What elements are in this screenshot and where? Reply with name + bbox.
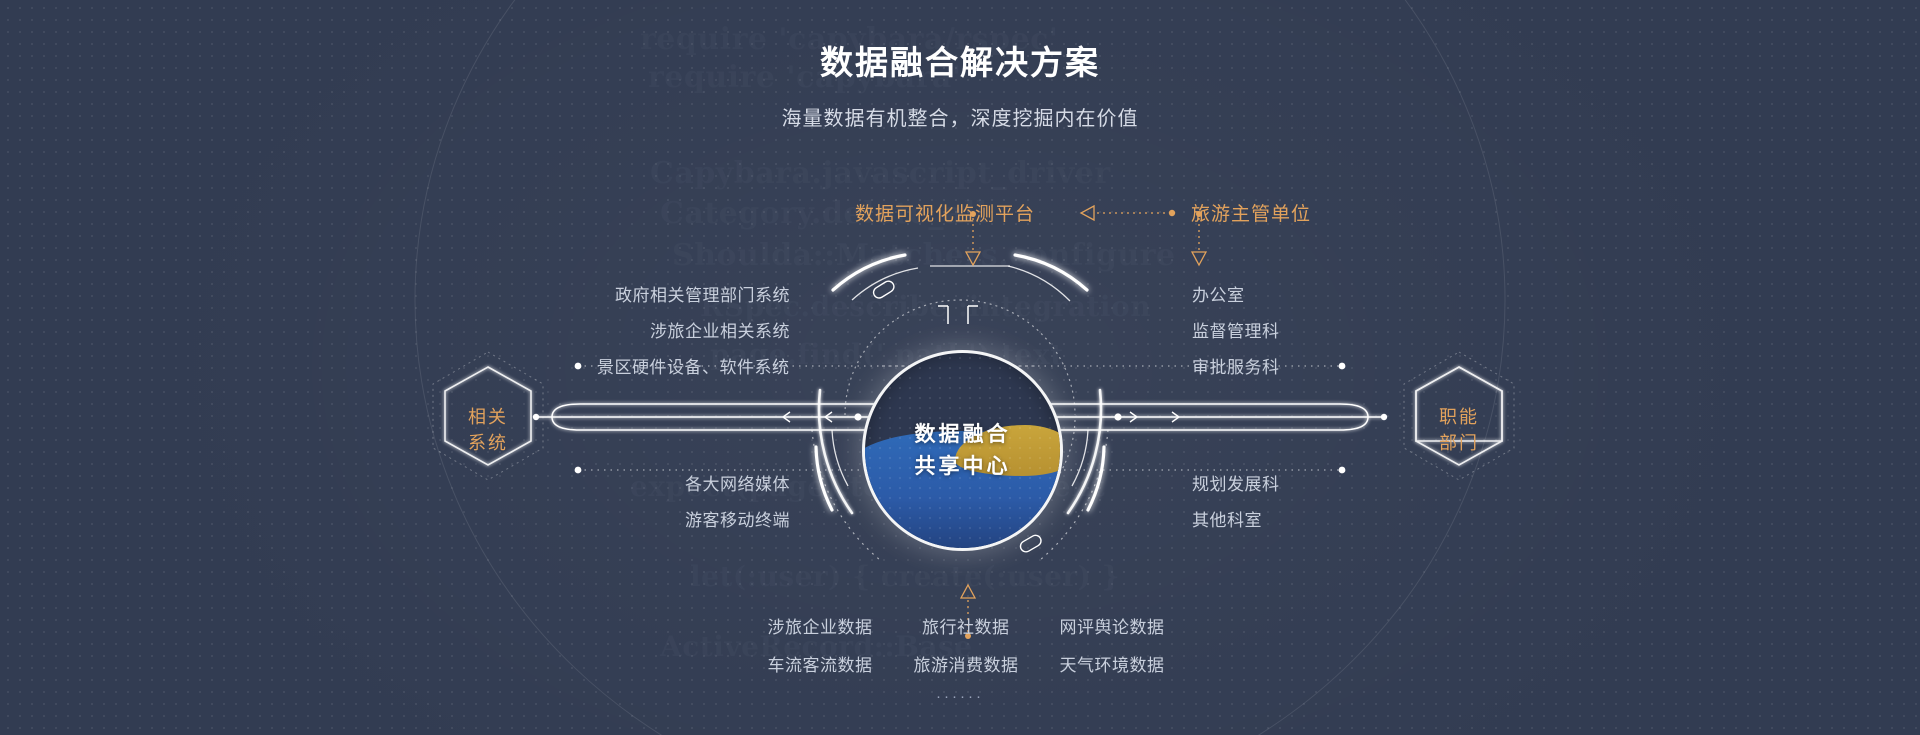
connector-node	[854, 413, 861, 420]
hexagon-left-line1: 相关	[468, 404, 508, 430]
connector-left-arrows	[783, 412, 832, 422]
data-item-r1c0: 车流客流数据	[768, 651, 873, 676]
hexagon-left-text: 相关 系统	[413, 355, 563, 505]
core-label: 数据融合 共享中心	[865, 353, 1060, 548]
bg-code-watermark: let(:user) { create(:user) }	[690, 560, 1120, 593]
arrow-dot	[1169, 210, 1175, 216]
label-tourism-authority: 旅游主管单位	[1191, 199, 1311, 226]
right-item-0: 办公室	[1192, 281, 1245, 306]
right-item-3: 规划发展科	[1192, 470, 1280, 495]
connector-right-arrows	[1130, 412, 1179, 422]
connector-node	[575, 363, 582, 370]
right-item-2: 审批服务科	[1192, 353, 1280, 378]
data-item-r1c1: 旅游消费数据	[914, 651, 1019, 676]
connector-node	[575, 467, 582, 474]
right-item-1: 监督管理科	[1192, 317, 1280, 342]
core-line1: 数据融合	[915, 419, 1011, 451]
left-item-2: 景区硬件设备、软件系统	[597, 353, 790, 378]
connector-node	[1114, 413, 1121, 420]
hexagon-right-line1: 职能	[1439, 404, 1479, 430]
left-item-0: 政府相关管理部门系统	[615, 281, 790, 306]
hexagon-right-line2: 部门	[1439, 430, 1479, 456]
arrow-authority-to-platform	[1081, 206, 1168, 220]
page-subtitle: 海量数据有机整合，深度挖掘内在价值	[0, 102, 1920, 131]
bg-code-watermark: Capybara.javascript_driver	[650, 156, 1111, 191]
hexagon-functional-departments[interactable]: 职能 部门	[1384, 355, 1534, 505]
core-line2: 共享中心	[915, 451, 1011, 483]
page-title: 数据融合解决方案	[0, 36, 1920, 84]
left-item-4: 游客移动终端	[685, 506, 790, 531]
data-item-r1c2: 天气环境数据	[1060, 651, 1165, 676]
infographic-canvas: require 'capybara/rspec' require 'capyba…	[0, 0, 1920, 735]
left-item-1: 涉旅企业相关系统	[650, 317, 790, 342]
data-more-ellipsis: ······	[0, 688, 1920, 705]
core-sphere-data-fusion-center[interactable]: 数据融合 共享中心	[862, 350, 1063, 551]
data-item-r0c1: 旅行社数据	[922, 613, 1010, 638]
connector-node	[1339, 467, 1346, 474]
data-item-r0c2: 网评舆论数据	[1060, 613, 1165, 638]
label-visualization-platform: 数据可视化监测平台	[855, 199, 1035, 226]
left-item-3: 各大网络媒体	[685, 470, 790, 495]
connector-node	[1339, 363, 1346, 370]
orbit-bracket-notch	[938, 306, 978, 324]
hexagon-left-line2: 系统	[468, 430, 508, 456]
right-item-4: 其他科室	[1192, 506, 1262, 531]
data-item-r0c0: 涉旅企业数据	[768, 613, 873, 638]
hexagon-right-text: 职能 部门	[1384, 355, 1534, 505]
hexagon-related-systems[interactable]: 相关 系统	[413, 355, 563, 505]
bg-code-watermark: Shoulda::Matchers.configure	[672, 238, 1176, 273]
